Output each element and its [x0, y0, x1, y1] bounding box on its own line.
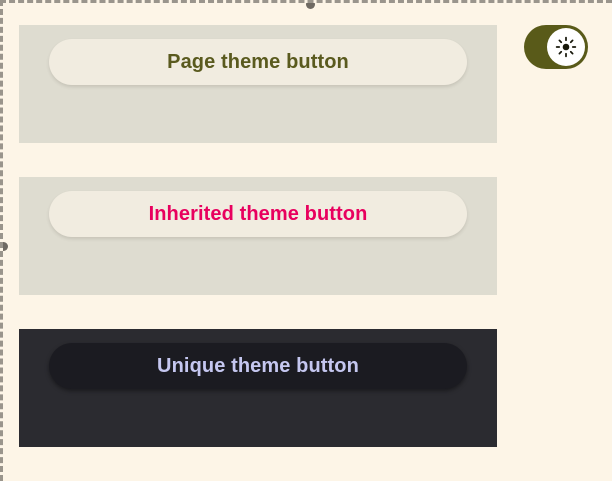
panel-unique-theme: Unique theme button [19, 329, 497, 447]
unique-theme-button[interactable]: Unique theme button [49, 343, 467, 389]
resize-handle-top[interactable] [306, 0, 315, 9]
page-theme-button[interactable]: Page theme button [49, 39, 467, 85]
resize-handle-left[interactable] [0, 242, 8, 251]
panel-page-theme: Page theme button [19, 25, 497, 143]
panel-inherited-theme: Inherited theme button [19, 177, 497, 295]
theme-panel-stack: Page theme button Inherited theme button… [19, 25, 497, 447]
sun-icon [555, 36, 577, 58]
theme-mode-toggle[interactable] [524, 25, 588, 69]
toggle-knob [547, 28, 585, 66]
selected-element-frame: Page theme button Inherited theme button… [0, 0, 612, 481]
inherited-theme-button[interactable]: Inherited theme button [49, 191, 467, 237]
